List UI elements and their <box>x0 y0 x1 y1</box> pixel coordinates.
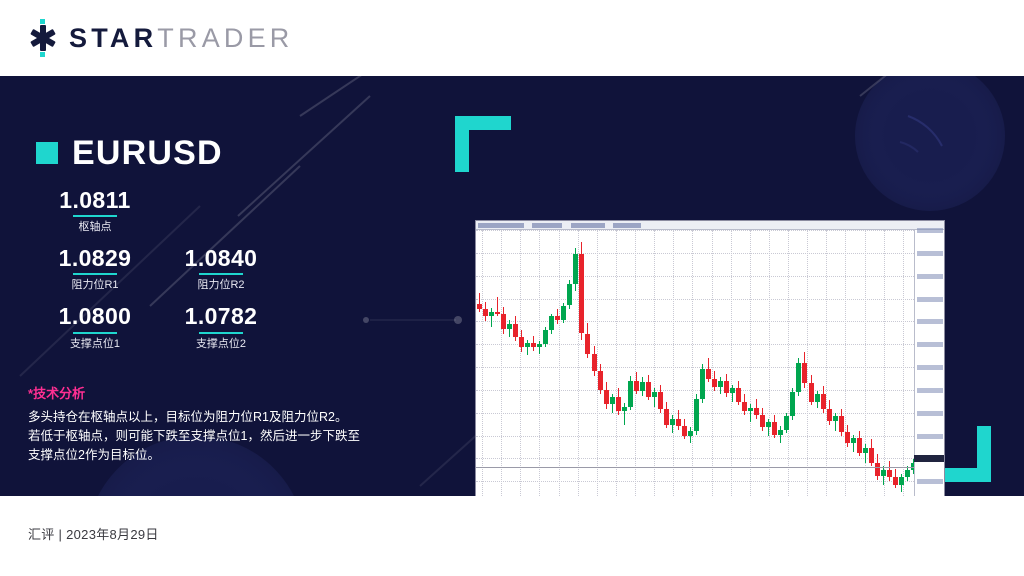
candle-body <box>483 309 488 316</box>
candle-body <box>815 394 820 401</box>
candle-wick <box>768 419 769 436</box>
candle-body <box>742 402 747 412</box>
candle-wick <box>732 385 733 402</box>
candle-body <box>555 316 560 320</box>
candle-body <box>706 369 711 379</box>
candle-body <box>809 383 814 401</box>
candle-body <box>869 448 874 463</box>
candle-body <box>905 470 910 477</box>
level-underline <box>73 273 117 275</box>
candle-body <box>766 422 771 427</box>
candle-body <box>561 306 566 321</box>
price-axis[interactable] <box>914 230 944 496</box>
candle-wick <box>527 340 528 356</box>
candle-body <box>700 369 705 399</box>
price-axis-tick <box>917 342 943 347</box>
candle-body <box>610 397 615 404</box>
analysis-line-1: 多头持仓在枢轴点以上，目标位为阻力位R1及阻力位R2。 <box>28 408 398 427</box>
poster-canvas: STARTRADER <box>0 0 1024 576</box>
accent-square-icon <box>36 142 58 164</box>
level-r2-label: 阻力位R2 <box>162 279 280 291</box>
candle-body <box>495 312 500 314</box>
level-underline <box>73 215 117 217</box>
price-axis-tick <box>917 251 943 256</box>
candle-body <box>519 337 524 347</box>
analysis-title-text: 技术分析 <box>33 386 85 401</box>
hero-panel: EURUSD 1.0811 枢轴点 1.0829 阻力位R1 1.0840 <box>0 76 1024 496</box>
candle-body <box>567 284 572 306</box>
analysis-line-2: 若低于枢轴点，则可能下跌至支撑点位1，然后进一步下跌至 <box>28 427 398 446</box>
candle-wick <box>539 341 540 354</box>
candle-body <box>833 416 838 421</box>
candle-body <box>507 324 512 329</box>
level-r2-value: 1.0840 <box>162 246 280 270</box>
candle-body <box>646 382 651 397</box>
candle-body <box>724 381 729 393</box>
candle-body <box>525 343 530 347</box>
level-r1-label: 阻力位R1 <box>36 279 154 291</box>
current-price-tag <box>914 455 944 462</box>
analysis-line-3: 支撑点位2作为目标位。 <box>28 446 398 465</box>
candle-wick <box>853 435 854 452</box>
candle-body <box>513 324 518 337</box>
level-r1-value: 1.0829 <box>36 246 154 270</box>
level-underline <box>199 332 243 334</box>
analysis-body: 多头持仓在枢轴点以上，目标位为阻力位R1及阻力位R2。 若低于枢轴点，则可能下跌… <box>28 408 398 466</box>
candle-body <box>658 392 663 409</box>
price-axis-tick <box>917 479 943 484</box>
candle-body <box>754 408 759 415</box>
candle-body <box>598 371 603 389</box>
candle-body <box>670 419 675 425</box>
logo-accent-dot-bottom <box>40 52 45 57</box>
candle-body <box>676 419 681 426</box>
brand-name-bold: STAR <box>69 23 157 53</box>
candle-body <box>694 399 699 431</box>
candle-body <box>712 379 717 388</box>
candle-body <box>875 463 880 476</box>
technical-analysis-block: *技术分析 多头持仓在枢轴点以上，目标位为阻力位R1及阻力位R2。 若低于枢轴点… <box>28 386 398 466</box>
candle-body <box>845 432 850 443</box>
candle-body <box>585 334 590 355</box>
level-s1-value: 1.0800 <box>36 304 154 328</box>
candle-body <box>736 388 741 401</box>
candle-body <box>881 470 886 476</box>
price-axis-tick <box>917 411 943 416</box>
level-support-1: 1.0800 支撑点位1 <box>36 304 154 349</box>
price-axis-tick <box>917 434 943 439</box>
candle-body <box>748 408 753 412</box>
candle-body <box>501 314 506 329</box>
brand-wordmark: STARTRADER <box>69 25 294 52</box>
candle-body <box>778 430 783 435</box>
candle-body <box>772 422 777 434</box>
price-crosshair-line <box>476 467 914 468</box>
logo-accent-dot-top <box>40 19 45 24</box>
candle-body <box>839 416 844 432</box>
level-s2-value: 1.0782 <box>162 304 280 328</box>
candle-body <box>730 388 735 393</box>
candle-body <box>827 409 832 421</box>
logo-asterisk-glyph <box>26 25 60 51</box>
candle-body <box>634 381 639 391</box>
candle-body <box>796 363 801 392</box>
candle-body <box>543 330 548 345</box>
candle-body <box>790 392 795 416</box>
candle-body <box>718 381 723 387</box>
candle-body <box>802 363 807 384</box>
level-pivot-value: 1.0811 <box>36 188 154 212</box>
brand-name-light: TRADER <box>157 23 293 53</box>
footer-caption: 汇评 | 2023年8月29日 <box>28 524 159 543</box>
candle-body <box>477 304 482 309</box>
candle-body <box>784 416 789 429</box>
candle-body <box>664 409 669 425</box>
price-axis-tick <box>917 319 943 324</box>
level-underline <box>199 273 243 275</box>
candle-body <box>640 382 645 391</box>
support-row: 1.0800 支撑点位1 1.0782 支撑点位2 <box>36 304 326 349</box>
candle-body <box>604 390 609 405</box>
level-s2-label: 支撑点位2 <box>162 338 280 350</box>
candle-body <box>893 477 898 484</box>
candle-body <box>899 477 904 484</box>
level-pivot: 1.0811 枢轴点 <box>36 188 154 233</box>
candle-body <box>760 415 765 427</box>
level-resistance-2: 1.0840 阻力位R2 <box>162 246 280 291</box>
symbol-heading: EURUSD <box>36 136 223 170</box>
candle-body <box>851 438 856 443</box>
pivot-row: 1.0811 枢轴点 <box>36 188 326 233</box>
price-axis-tick <box>917 297 943 302</box>
candle-body <box>622 407 627 412</box>
chart-plot-area[interactable] <box>476 230 914 496</box>
level-underline <box>73 332 117 334</box>
brand-logo[interactable]: STARTRADER <box>26 18 294 58</box>
price-axis-tick <box>917 388 943 393</box>
candle-body <box>537 344 542 346</box>
page-title: EURUSD <box>72 136 223 170</box>
candle-body <box>579 254 584 333</box>
candle-body <box>549 316 554 329</box>
footer-bar: 汇评 | 2023年8月29日 <box>0 496 1024 576</box>
candle-body <box>857 438 862 453</box>
mt4-chart-window[interactable] <box>475 220 945 496</box>
level-s1-label: 支撑点位1 <box>36 338 154 350</box>
level-support-2: 1.0782 支撑点位2 <box>162 304 280 349</box>
candle-body <box>628 381 633 407</box>
candle-body <box>887 470 892 477</box>
candle-body <box>821 394 826 409</box>
candle-body <box>531 343 536 347</box>
corner-bracket-top-left <box>455 116 511 172</box>
level-resistance-1: 1.0829 阻力位R1 <box>36 246 154 291</box>
candle-body <box>489 312 494 317</box>
analysis-title: *技术分析 <box>28 386 398 402</box>
price-axis-tick <box>917 228 943 233</box>
resistance-row: 1.0829 阻力位R1 1.0840 阻力位R2 <box>36 246 326 291</box>
candle-body <box>682 426 687 436</box>
price-axis-tick <box>917 365 943 370</box>
candle-wick <box>780 426 781 443</box>
candle-wick <box>509 320 510 337</box>
candle-body <box>592 354 597 371</box>
candle-body <box>688 431 693 436</box>
price-axis-tick <box>917 274 943 279</box>
asterisk-logo-icon <box>26 18 60 58</box>
chart-title-bar <box>476 221 944 230</box>
candle-body <box>616 397 621 412</box>
header-bar: STARTRADER <box>0 0 1024 76</box>
level-pivot-label: 枢轴点 <box>36 221 154 233</box>
candle-body <box>863 448 868 453</box>
pivot-levels: 1.0811 枢轴点 1.0829 阻力位R1 1.0840 阻力位R2 <box>36 188 326 350</box>
candle-body <box>573 254 578 283</box>
candle-body <box>652 392 657 397</box>
